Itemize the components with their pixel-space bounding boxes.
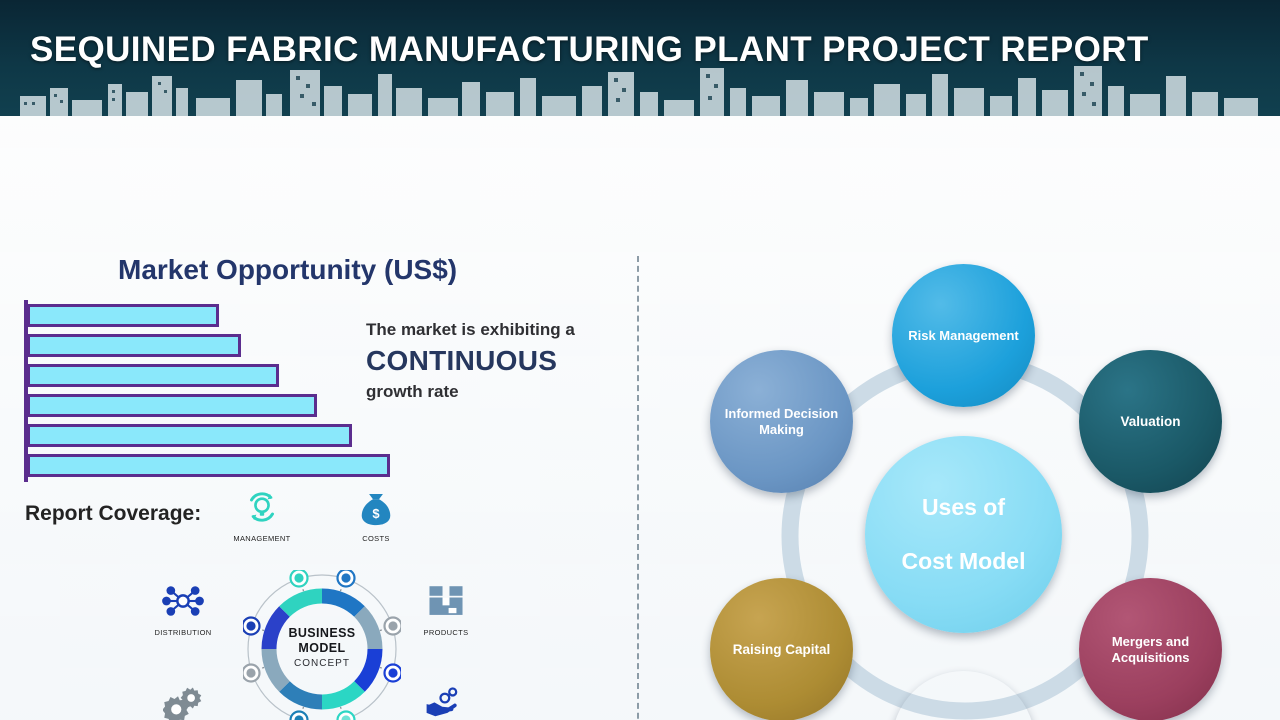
blurb-line-3: growth rate: [366, 381, 632, 403]
svg-text:$: $: [372, 506, 380, 521]
lightbulb-cycle-icon: [219, 484, 305, 530]
page-title: Sequined Fabric Manufacturing Plant Proj…: [30, 30, 1180, 70]
market-opportunity-title: Market Opportunity (US$): [118, 254, 457, 286]
cycle-node-label: Informed Decision Making: [710, 406, 853, 437]
cycle-node-risk-management[interactable]: Risk Management: [892, 264, 1035, 407]
money-bag-icon: $: [333, 484, 419, 530]
cycle-center-node[interactable]: Uses of Cost Model: [865, 436, 1062, 633]
center-line-3: CONCEPT: [243, 658, 401, 669]
cycle-node-label: Mergers and Acquisitions: [1079, 634, 1222, 665]
chart-bar: [27, 304, 219, 327]
boxes-icon: [403, 578, 489, 624]
coverage-item-services: SERVICES: [142, 682, 228, 720]
coverage-label: MANAGEMENT: [219, 534, 305, 543]
uses-of-cost-model-diagram: Risk Management Valuation Mergers and Ac…: [680, 246, 1280, 720]
slide-body: Market Opportunity (US$) The market is e…: [0, 116, 1280, 720]
cycle-node-informed-decision-making[interactable]: Informed Decision Making: [710, 350, 853, 493]
cycle-node-label: Valuation: [1114, 414, 1186, 430]
cycle-node-valuation[interactable]: Valuation: [1079, 350, 1222, 493]
vertical-divider: [637, 256, 639, 720]
slide-header: Sequined Fabric Manufacturing Plant Proj…: [0, 0, 1280, 116]
chart-bar: [27, 334, 241, 357]
coverage-label: PRODUCTS: [403, 628, 489, 637]
cycle-node-label: Raising Capital: [727, 642, 837, 658]
gears-icon: [142, 682, 228, 720]
coverage-item-products: PRODUCTS: [403, 578, 489, 637]
slide-root: Sequined Fabric Manufacturing Plant Proj…: [0, 0, 1280, 720]
cycle-node-label: Risk Management: [902, 328, 1025, 343]
center-line-1: BUSINESS: [243, 626, 401, 641]
cycle-center-line-2: Cost Model: [896, 548, 1032, 575]
blurb-line-1: The market is exhibiting a: [366, 319, 632, 341]
coverage-label: DISTRIBUTION: [140, 628, 226, 637]
cycle-center-label: Uses of Cost Model: [890, 494, 1038, 575]
cycle-node-mergers-acquisitions[interactable]: Mergers and Acquisitions: [1079, 578, 1222, 720]
coverage-item-revenue: REVENUE: [401, 682, 487, 720]
hand-coins-icon: [401, 682, 487, 720]
coverage-label: COSTS: [333, 534, 419, 543]
coverage-item-costs: $ COSTS: [333, 484, 419, 543]
network-nodes-icon: [140, 578, 226, 624]
chart-bar: [27, 454, 390, 477]
chart-bar: [27, 424, 352, 447]
market-opportunity-bar-chart: [24, 300, 404, 482]
business-model-diagram: MANAGEMENT $ COSTS: [140, 484, 500, 720]
chart-bar: [27, 364, 279, 387]
business-model-donut: BUSINESS MODEL CONCEPT: [243, 570, 401, 720]
coverage-item-distribution: DISTRIBUTION: [140, 578, 226, 637]
chart-bar: [27, 394, 317, 417]
coverage-item-management: MANAGEMENT: [219, 484, 305, 543]
center-line-2: MODEL: [243, 641, 401, 656]
cycle-node-raising-capital[interactable]: Raising Capital: [710, 578, 853, 720]
business-model-center-text: BUSINESS MODEL CONCEPT: [243, 626, 401, 669]
cycle-center-line-1: Uses of: [896, 494, 1032, 521]
growth-blurb: The market is exhibiting a CONTINUOUS gr…: [366, 319, 632, 403]
blurb-line-2: CONTINUOUS: [366, 341, 632, 381]
